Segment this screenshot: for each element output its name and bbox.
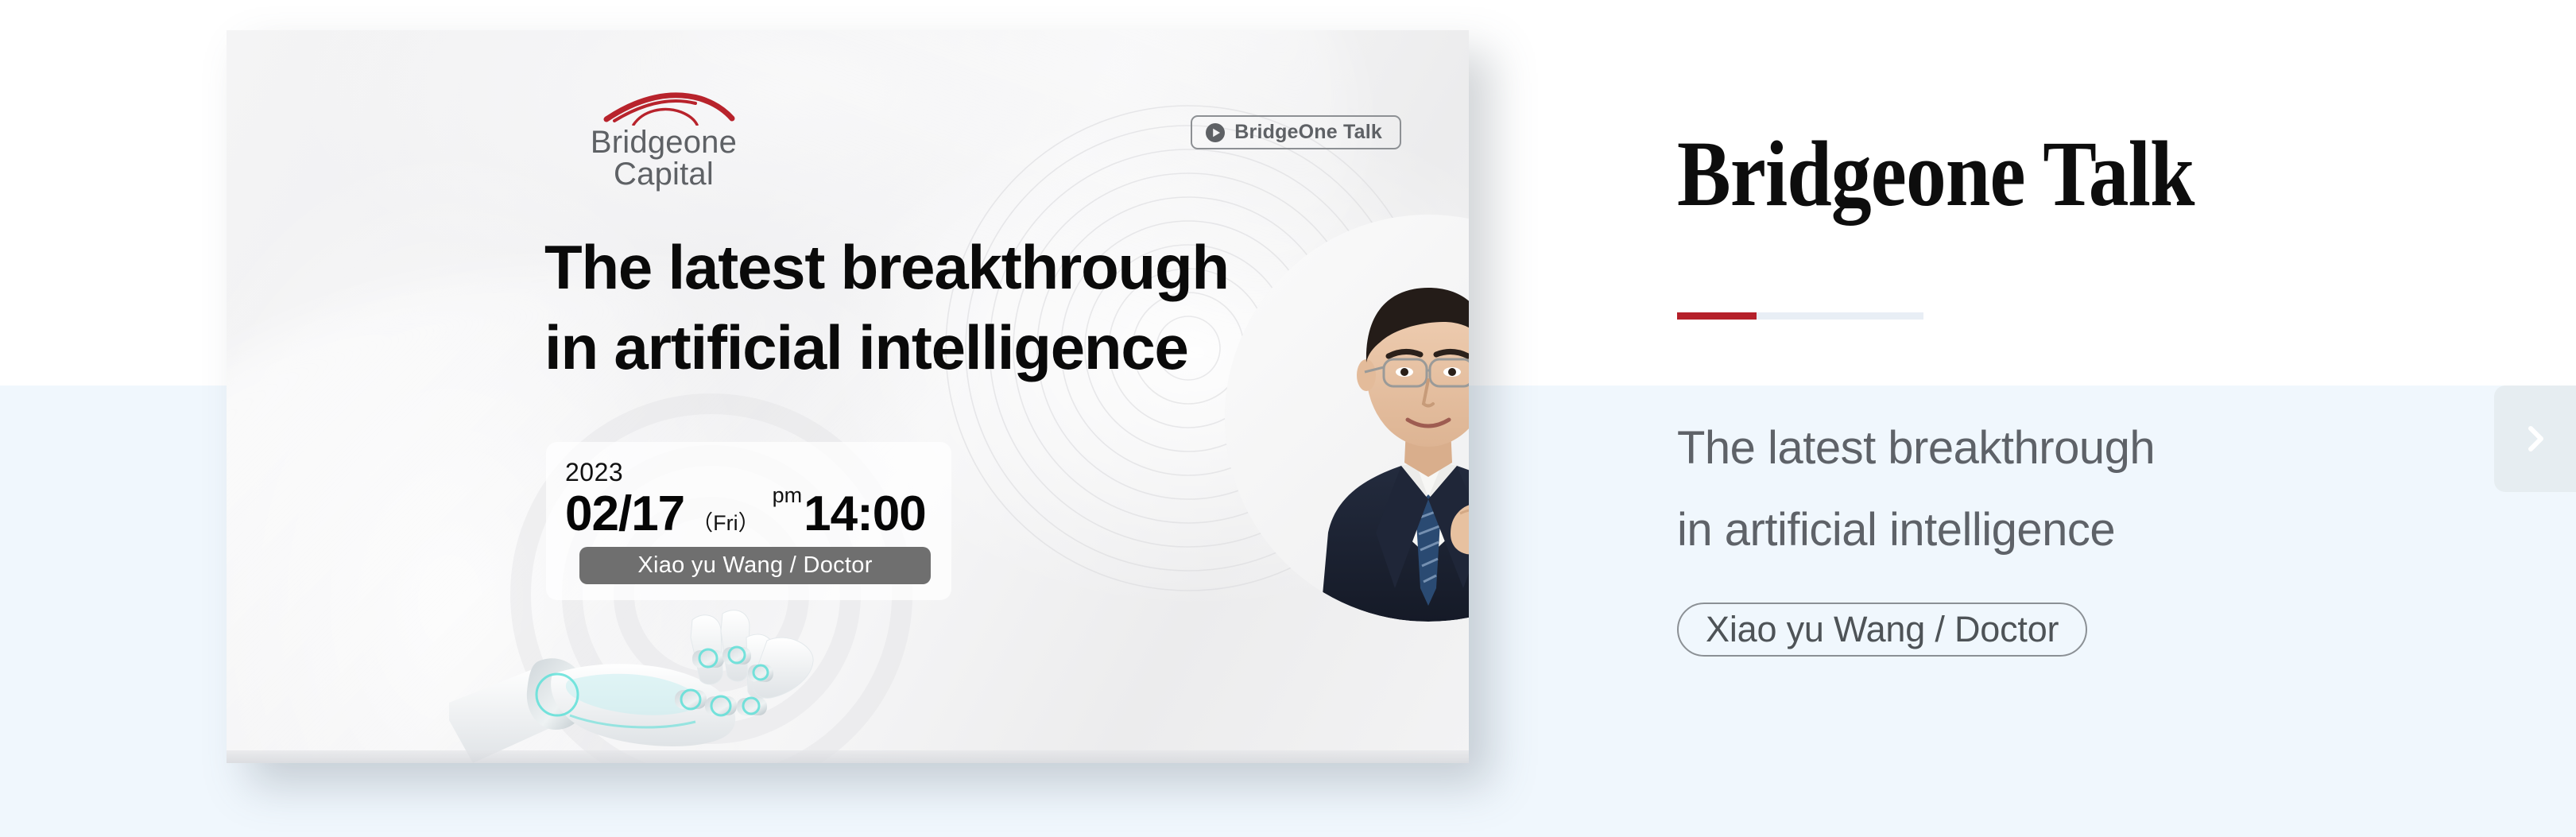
card-speaker-label: Xiao yu Wang / Doctor xyxy=(637,552,872,579)
chevron-right-icon xyxy=(2517,420,2554,457)
event-weekday: （Fri） xyxy=(691,513,759,534)
event-date: 02/17 xyxy=(565,490,684,539)
panel-speaker-pill[interactable]: Xiao yu Wang / Doctor xyxy=(1677,603,2087,657)
panel-subtitle: The latest breakthrough in artificial in… xyxy=(1677,407,2281,571)
panel-speaker-label: Xiao yu Wang / Doctor xyxy=(1706,609,2059,650)
play-icon xyxy=(1205,122,1226,143)
card-headline-line-2: in artificial intelligence xyxy=(544,308,1260,388)
panel-title: Bridgeone Talk xyxy=(1677,127,2194,221)
info-panel: Bridgeone Talk The latest breakthrough i… xyxy=(1677,0,2472,837)
carousel-next-button[interactable] xyxy=(2494,386,2576,492)
talk-badge[interactable]: BridgeOne Talk xyxy=(1191,115,1401,149)
event-date-block: 2023 02/17 （Fri） pm 14:00 Xiao yu Wang /… xyxy=(546,442,951,600)
panel-divider-accent xyxy=(1677,312,1757,320)
event-time: 14:00 xyxy=(804,490,926,539)
event-ampm: pm xyxy=(773,485,803,506)
card-headline: The latest breakthrough in artificial in… xyxy=(544,227,1260,389)
event-datetime-row: 02/17 （Fri） pm 14:00 xyxy=(565,490,931,539)
brand-logo: Bridgeone Capital xyxy=(544,92,783,190)
page-root: Bridgeone Capital BridgeOne Talk The lat… xyxy=(0,0,2576,837)
bridge-arc-icon xyxy=(544,92,783,126)
promo-card[interactable]: Bridgeone Capital BridgeOne Talk The lat… xyxy=(227,30,1469,763)
panel-subtitle-line-1: The latest breakthrough xyxy=(1677,407,2281,489)
panel-divider xyxy=(1677,312,1923,320)
talk-badge-label: BridgeOne Talk xyxy=(1234,121,1382,144)
panel-subtitle-line-2: in artificial intelligence xyxy=(1677,489,2281,571)
card-bottom-strip xyxy=(227,750,1469,763)
event-year: 2023 xyxy=(565,459,931,485)
robot-hand-illustration xyxy=(449,579,831,763)
card-headline-line-1: The latest breakthrough xyxy=(544,227,1260,308)
brand-name-label: Bridgeone Capital xyxy=(544,126,783,190)
